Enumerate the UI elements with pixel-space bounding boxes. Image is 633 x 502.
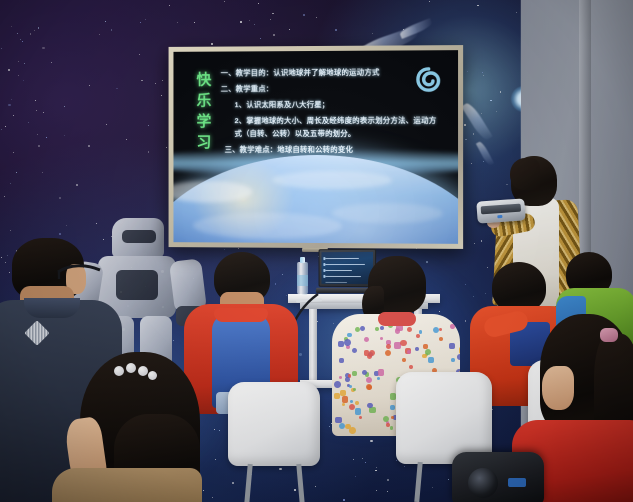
slide-body-text: 一、教学目的：认识地球并了解地球的运动方式 二、教学重点： 1、认识太阳系及八大… xyxy=(221,68,412,162)
handheld-demo-device[interactable] xyxy=(476,198,525,223)
vertical-char-1: 快 xyxy=(191,69,217,90)
woman-coat xyxy=(52,468,202,502)
girl-ear-cheek xyxy=(542,366,574,410)
vertical-char-4: 习 xyxy=(191,132,217,153)
slide-vertical-title: 快 乐 学 习 xyxy=(191,69,217,152)
vertical-char-3: 学 xyxy=(191,111,217,132)
child-collar xyxy=(214,308,268,322)
slide-line-2: 二、教学重点： xyxy=(221,84,412,95)
photo-scene: 快 乐 学 习 一、教学目的：认识地球并了解地球的运动方式 二、教学重点： 1、… xyxy=(0,0,633,502)
woman-foreground-left xyxy=(52,352,228,502)
pearl-hair-clip xyxy=(114,366,158,378)
display-screen: 快 乐 学 习 一、教学目的：认识地球并了解地球的运动方式 二、教学重点： 1、… xyxy=(173,50,458,244)
vertical-char-2: 乐 xyxy=(191,90,217,111)
man-collar xyxy=(24,298,80,318)
slide-line-1: 一、教学目的：认识地球并了解地球的运动方式 xyxy=(221,68,412,79)
device-lens-icon xyxy=(468,468,498,498)
child-hair xyxy=(492,262,546,312)
slide-line-5: 式（自转、公转）以及五带的划分。 xyxy=(235,129,412,139)
hair-tie xyxy=(600,328,618,342)
white-chair-center[interactable] xyxy=(228,382,320,502)
device-indicator xyxy=(497,215,502,218)
glasses-icon xyxy=(56,262,104,288)
device-display-face xyxy=(481,204,521,215)
child-inner-collar xyxy=(378,312,416,326)
device-led xyxy=(508,478,526,487)
spiral-swirl-logo-icon xyxy=(415,66,441,92)
slide-line-3: 1、认识太阳系及八大行星； xyxy=(235,100,412,110)
black-projector-device[interactable] xyxy=(452,452,544,502)
slide-line-4: 2、掌握地球的大小、周长及经纬度的表示划分方法、运动方 xyxy=(235,116,412,126)
wall-mounted-display[interactable]: 快 乐 学 习 一、教学目的：认识地球并了解地球的运动方式 二、教学重点： 1、… xyxy=(169,45,464,249)
slide-line-6: 三、教学难点：地球自转和公转的变化 xyxy=(225,145,412,155)
presenter-hair-fringe xyxy=(510,158,540,190)
